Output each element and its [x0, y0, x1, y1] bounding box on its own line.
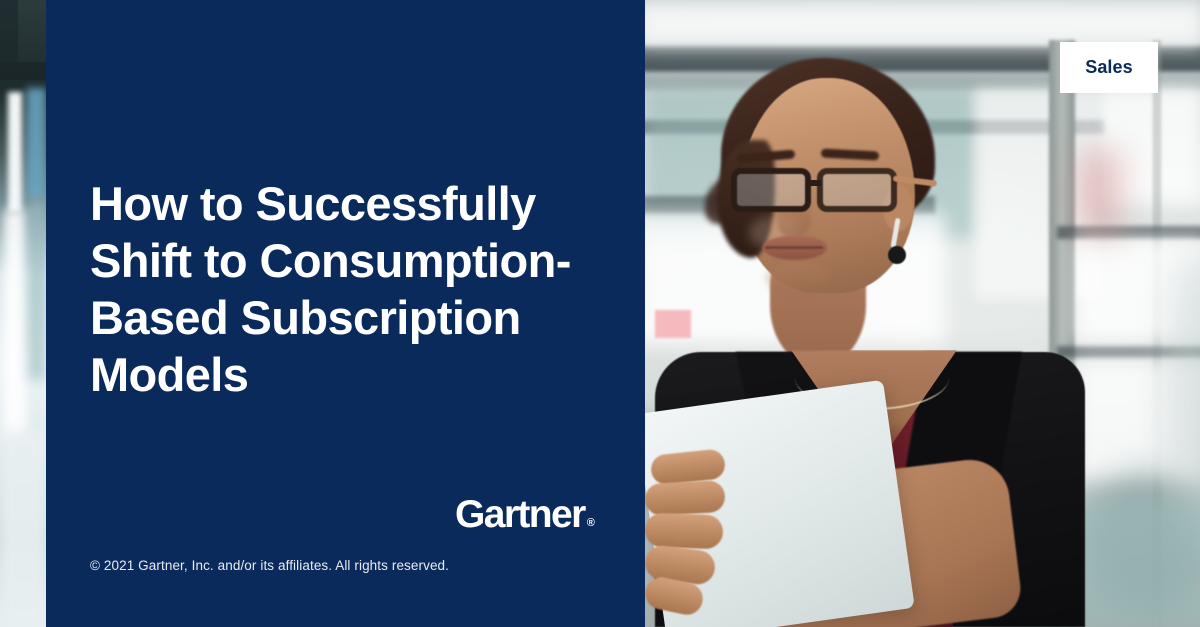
chin — [765, 262, 831, 296]
category-badge-label: Sales — [1085, 57, 1133, 78]
earring-ball — [888, 246, 906, 264]
gartner-logo: Gartner ® — [455, 498, 595, 532]
navy-panel: How to Successfully Shift to Consumption… — [46, 0, 645, 627]
hand — [645, 452, 755, 627]
registered-trademark-icon: ® — [587, 517, 595, 529]
person-subject — [645, 0, 1200, 627]
glasses-bridge — [809, 180, 821, 186]
category-badge-sales[interactable]: Sales — [1060, 42, 1158, 93]
eyeglasses — [731, 168, 921, 214]
lens-left — [731, 168, 811, 212]
copyright-notice: © 2021 Gartner, Inc. and/or its affiliat… — [90, 558, 449, 573]
lip-line — [765, 246, 823, 249]
page-title: How to Successfully Shift to Consumption… — [90, 175, 630, 403]
gartner-wordmark: Gartner — [455, 498, 585, 532]
lens-right — [817, 168, 897, 212]
left-photo-strip — [0, 0, 46, 627]
promo-card: How to Successfully Shift to Consumption… — [0, 0, 1200, 627]
